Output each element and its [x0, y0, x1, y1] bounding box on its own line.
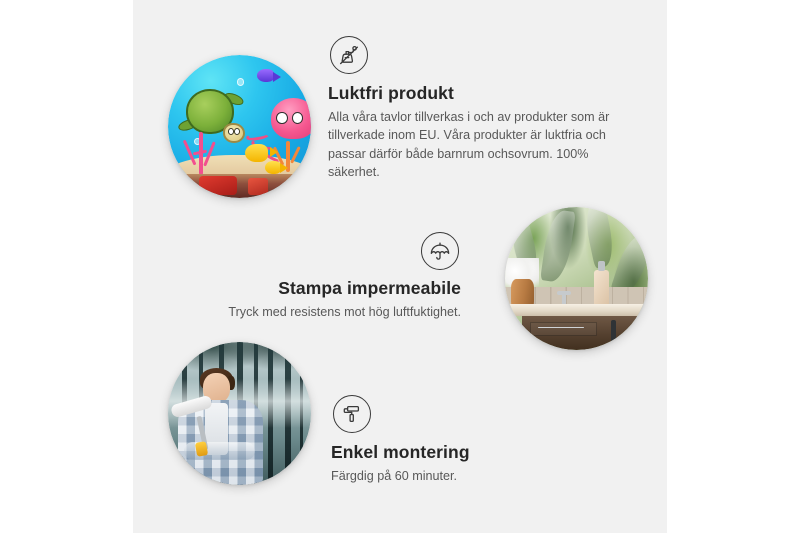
fish-illustration [265, 161, 281, 174]
feature-description: Tryck med resistens mot hög luftfuktighe… [187, 303, 461, 321]
countertop [505, 304, 648, 315]
feature-description: Färgdig på 60 minuter. [331, 467, 611, 485]
fish-illustration [245, 144, 268, 163]
feature-title: Luktfri produkt [328, 83, 624, 103]
feature-description: Alla våra tavlor tillverkas i och av pro… [328, 108, 624, 181]
photo-underwater-inner [168, 55, 311, 198]
feature-block-odourless: Luktfri produkt Alla våra tavlor tillver… [328, 36, 624, 181]
feature-title: Stampa impermeabile [187, 278, 461, 298]
pink-coral [182, 132, 219, 175]
octopus-head [271, 98, 311, 139]
paint-roller-icon [333, 395, 371, 433]
no-odour-icon [330, 36, 368, 74]
cabinet-drawer [530, 322, 597, 336]
photo-underwater-kids-scene [168, 55, 311, 198]
feature-title: Enkel montering [331, 442, 611, 462]
feature-block-waterproof: Stampa impermeabile Tryck med resistens … [187, 232, 461, 321]
infographic-page: Luktfri produkt Alla våra tavlor tillver… [0, 0, 800, 533]
fish-illustration [257, 69, 274, 82]
photo-woman-with-paint-roller [168, 342, 311, 485]
feature-block-assembly: Enkel montering Färgdig på 60 minuter. [331, 395, 611, 485]
woman-figure [177, 371, 266, 485]
photo-bathroom-tropical-wallpaper [505, 207, 648, 350]
room-furniture-strip [168, 174, 311, 198]
bubble-icon [237, 78, 245, 86]
photo-painter-inner [168, 342, 311, 485]
vanity-cabinet [522, 316, 648, 350]
infographic-canvas: Luktfri produkt Alla våra tavlor tillver… [133, 0, 667, 533]
door-handle [611, 320, 616, 343]
umbrella-icon [421, 232, 459, 270]
photo-bathroom-inner [505, 207, 648, 350]
turtle-head [223, 123, 245, 144]
